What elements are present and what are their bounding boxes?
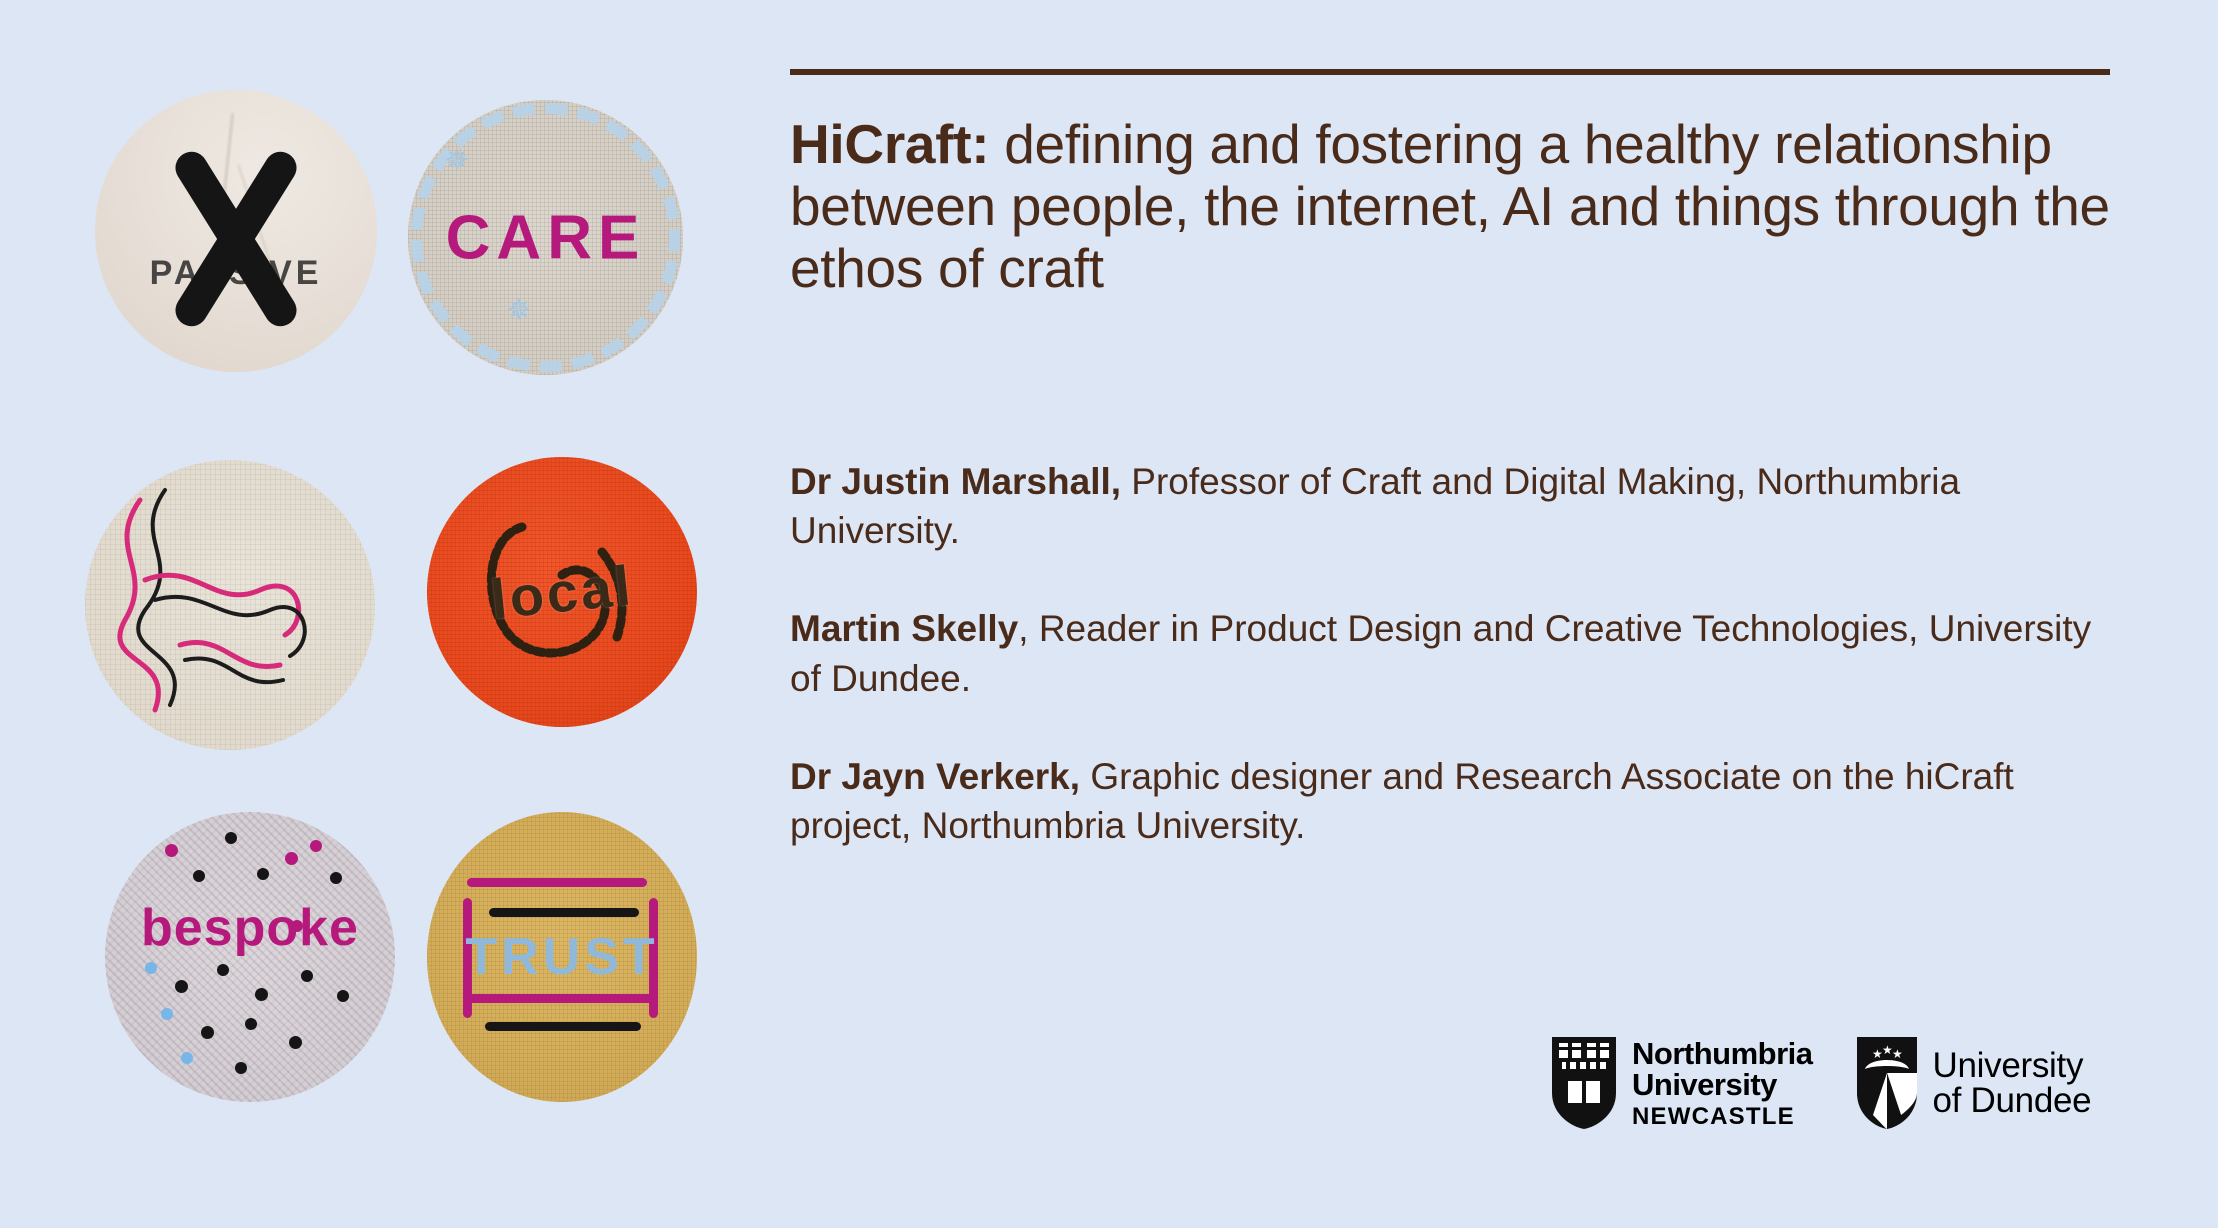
- embroidery-patch-grid: PASSIVE ✵ ✵ CARE local: [75, 90, 725, 1150]
- page-title-project-name: HiCraft:: [790, 113, 989, 175]
- speaker-entry: Dr Jayn Verkerk, Graphic designer and Re…: [790, 752, 2120, 850]
- speaker-name: Dr Jayn Verkerk,: [790, 756, 1080, 797]
- patch-bespoke: bespoke: [105, 812, 395, 1102]
- partner-logos: Northumbria University NEWCASTLE ★ ★ ★ U…: [1550, 1035, 2091, 1131]
- dundee-line1: University: [1933, 1048, 2092, 1083]
- northumbria-line3: NEWCASTLE: [1632, 1105, 1813, 1129]
- patch-passive: PASSIVE: [95, 90, 377, 372]
- patch-care-label: CARE: [408, 202, 683, 273]
- dundee-line2: of Dundee: [1933, 1083, 2092, 1118]
- patch-local: local: [427, 457, 697, 727]
- speaker-entry: Dr Justin Marshall, Professor of Craft a…: [790, 457, 2120, 555]
- northumbria-line1: Northumbria: [1632, 1038, 1813, 1069]
- northumbria-university-logo: Northumbria University NEWCASTLE: [1550, 1035, 1813, 1131]
- northumbria-wordmark: Northumbria University NEWCASTLE: [1632, 1038, 1813, 1129]
- dundee-university-logo: ★ ★ ★ University of Dundee: [1855, 1035, 2092, 1131]
- svg-text:★: ★: [1892, 1047, 1903, 1061]
- northumbria-line2: University: [1632, 1069, 1813, 1100]
- title-rule-divider: [790, 69, 2110, 75]
- patch-trust-label: TRUST: [427, 927, 697, 987]
- page-title: HiCraft: defining and fostering a health…: [790, 113, 2120, 299]
- patch-care: ✵ ✵ CARE: [408, 100, 683, 375]
- speaker-entry: Martin Skelly, Reader in Product Design …: [790, 604, 2120, 702]
- star-stitch-icon: ✵: [442, 146, 472, 176]
- patch-trust: TRUST: [427, 812, 697, 1102]
- speaker-name: Dr Justin Marshall,: [790, 461, 1121, 502]
- tangled-thread-icon: [85, 460, 375, 750]
- speaker-name: Martin Skelly: [790, 608, 1018, 649]
- patch-tangled-threads: [85, 460, 375, 750]
- dundee-wordmark: University of Dundee: [1933, 1048, 2092, 1118]
- dundee-crest-icon: ★ ★ ★: [1855, 1035, 1919, 1131]
- star-stitch-icon: ✵: [504, 296, 534, 326]
- speaker-list: Dr Justin Marshall, Professor of Craft a…: [790, 457, 2120, 899]
- content-column: HiCraft: defining and fostering a health…: [790, 0, 2150, 1228]
- northumbria-crest-icon: [1550, 1035, 1618, 1131]
- patch-bespoke-label: bespoke: [105, 898, 395, 958]
